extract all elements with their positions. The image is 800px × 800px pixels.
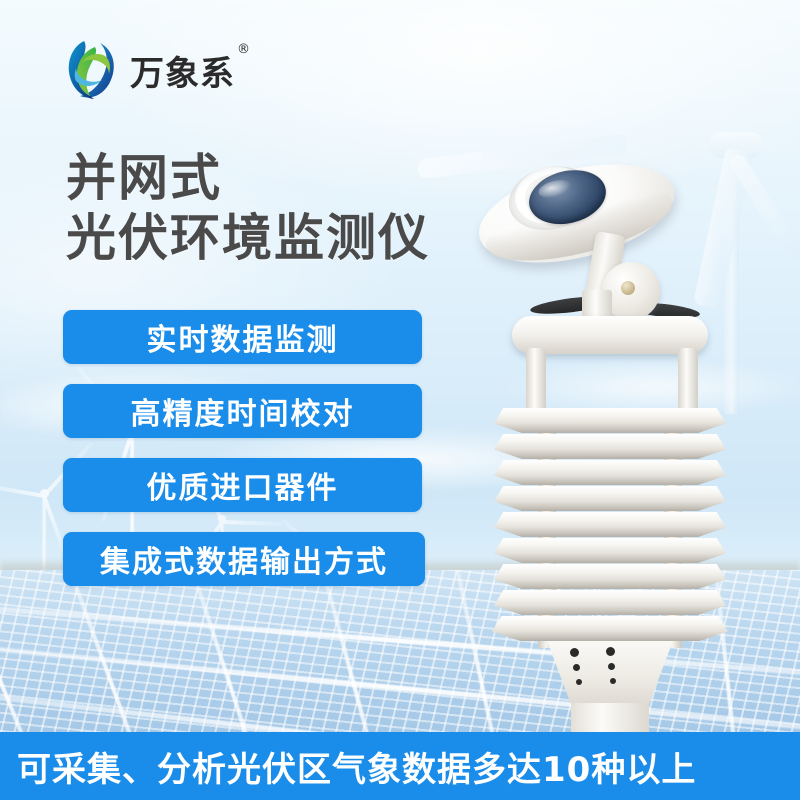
shield-louvre: [494, 486, 726, 511]
feature-pill-1[interactable]: 实时数据监测: [63, 310, 422, 364]
radiation-shield: [494, 408, 726, 648]
shield-louvre: [494, 408, 726, 433]
headline-line-1: 并网式: [66, 148, 430, 208]
shield-louvre: [494, 512, 726, 537]
brand-name: 万象系 ®: [130, 46, 235, 95]
feature-pill-4[interactable]: 集成式数据输出方式: [63, 532, 425, 586]
shield-louvre: [492, 616, 728, 641]
feature-list: 实时数据监测 高精度时间校对 优质进口器件 集成式数据输出方式: [63, 310, 425, 606]
page-title: 并网式 光伏环境监测仪: [66, 148, 430, 268]
bottom-banner: 可采集、分析光伏区气象数据多达10种以上: [0, 732, 800, 800]
shield-louvre: [494, 460, 726, 485]
headline-line-2: 光伏环境监测仪: [66, 208, 430, 268]
vent-hole: [573, 664, 580, 671]
feature-pill-2[interactable]: 高精度时间校对: [63, 384, 422, 438]
shield-louvre: [494, 590, 726, 615]
vent-hole: [576, 679, 582, 685]
shield-louvre: [494, 564, 726, 589]
registered-trademark-icon: ®: [237, 42, 251, 57]
swirl-globe-logo-icon: [64, 38, 120, 102]
bottom-banner-text: 可采集、分析光伏区气象数据多达10种以上: [0, 742, 696, 791]
product-banner: 万象系 ® 并网式 光伏环境监测仪 实时数据监测 高精度时间校对 优质进口器件 …: [0, 0, 800, 800]
vent-hole: [610, 678, 616, 684]
vent-hole: [608, 663, 615, 670]
shield-louvre: [494, 538, 726, 563]
brand-name-text: 万象系: [130, 54, 235, 94]
vent-hole: [570, 648, 579, 657]
brand-logo: 万象系 ®: [64, 38, 235, 102]
feature-pill-3[interactable]: 优质进口器件: [63, 458, 422, 512]
shield-base-cone: [546, 638, 674, 706]
vent-hole: [606, 647, 615, 656]
shield-louvre: [494, 434, 726, 459]
product-image: [470, 138, 750, 708]
